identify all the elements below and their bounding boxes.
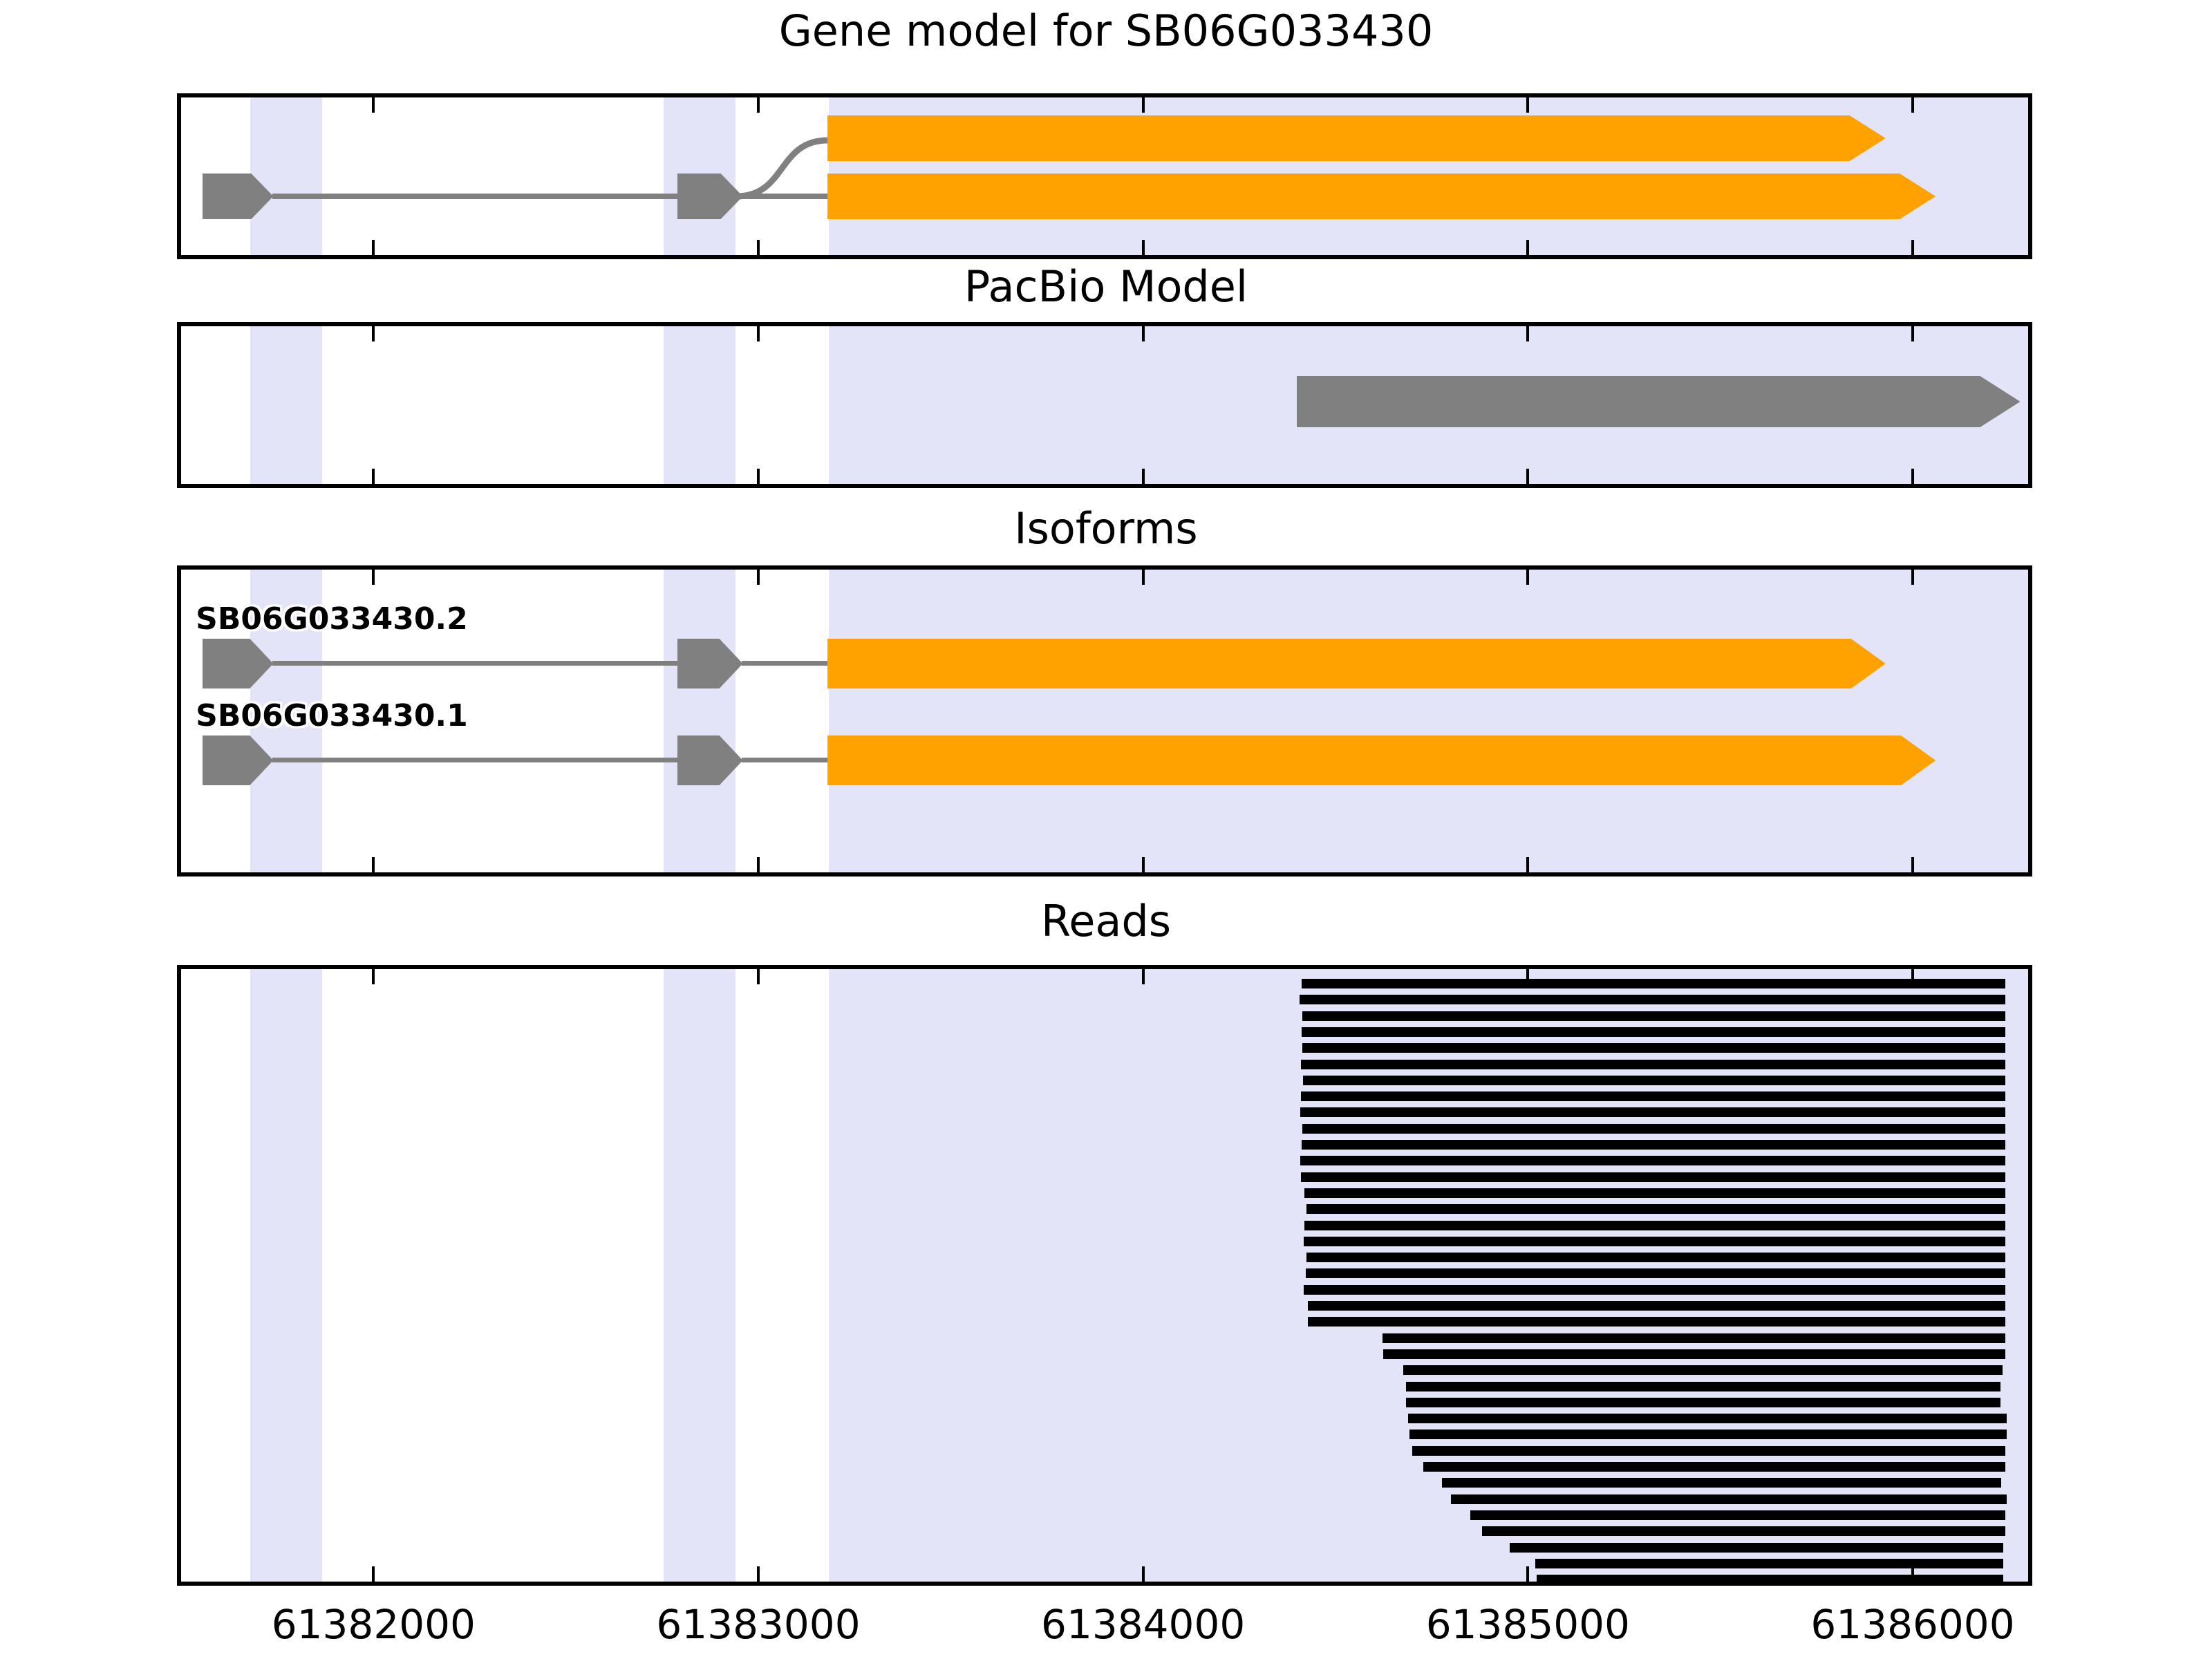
- read-bar: [1306, 1204, 2005, 1214]
- read-bar: [1301, 1091, 2005, 1101]
- panel-title-isoforms: Isoforms: [0, 503, 2212, 554]
- read-bar: [1302, 1124, 2005, 1134]
- axis-tick: [1911, 469, 1914, 484]
- read-bar: [1302, 979, 2005, 988]
- axis-tick: [1911, 857, 1914, 872]
- axis-tick: [1911, 570, 1914, 585]
- shaded-region: [664, 326, 735, 484]
- panel-title-pacbio-model: PacBio Model: [0, 261, 2212, 312]
- axis-tick: [1142, 326, 1145, 341]
- axis-tick: [1911, 97, 1914, 113]
- read-bar: [1302, 1140, 2005, 1150]
- read-bar: [1423, 1462, 2005, 1472]
- axis-tick: [1142, 969, 1145, 984]
- read-bar: [1304, 1285, 2005, 1295]
- axis-tick: [372, 857, 375, 872]
- x-axis-tick-label: 61384000: [984, 1601, 1302, 1648]
- cds-arrow: [827, 639, 1886, 688]
- shaded-region: [250, 326, 322, 484]
- read-bar: [1412, 1446, 2005, 1456]
- panel-gene-model: [177, 93, 2032, 259]
- axis-tick: [757, 969, 760, 984]
- intron-line: [272, 194, 679, 199]
- isoform-label: SB06G033430.1: [196, 698, 468, 733]
- read-bar: [1304, 1237, 2005, 1246]
- intron-line: [742, 661, 829, 666]
- axis-tick: [1526, 570, 1529, 585]
- read-bar: [1535, 1559, 2003, 1568]
- axis-tick: [1142, 469, 1145, 484]
- axis-tick: [1142, 240, 1145, 255]
- axis-tick: [1142, 1566, 1145, 1582]
- axis-tick: [1142, 857, 1145, 872]
- read-bar: [1482, 1526, 2005, 1536]
- intron-line: [742, 758, 829, 762]
- read-bar: [1382, 1333, 2005, 1343]
- read-bar: [1409, 1430, 2007, 1439]
- read-bar: [1510, 1543, 2004, 1553]
- axis-tick: [1526, 240, 1529, 255]
- utr-exon-block: [203, 174, 273, 219]
- read-bar: [1442, 1478, 2001, 1488]
- axis-tick: [372, 570, 375, 585]
- read-bar: [1406, 1382, 2000, 1391]
- x-axis-tick-label: 61386000: [1754, 1601, 2072, 1648]
- axis-tick: [372, 1566, 375, 1582]
- read-bar: [1306, 1268, 2005, 1278]
- axis-tick: [1526, 857, 1529, 872]
- utr-exon-block: [203, 735, 273, 785]
- read-bar: [1300, 1156, 2005, 1165]
- read-bar: [1308, 1301, 2005, 1311]
- x-axis-tick-label: 61385000: [1369, 1601, 1687, 1648]
- read-bar: [1470, 1510, 2005, 1520]
- cds-arrow: [827, 735, 1935, 785]
- panel-isoforms: SB06G033430.2SB06G033430.1: [177, 565, 2032, 877]
- utr-exon-block: [677, 174, 743, 219]
- panel-title-gene-model: Gene model for SB06G033430: [0, 6, 2212, 56]
- pacbio-model-arrow: [1297, 376, 2021, 427]
- read-bar: [1451, 1494, 2007, 1504]
- read-bar: [1306, 1253, 2005, 1262]
- axis-tick: [372, 326, 375, 341]
- intron-line: [272, 758, 679, 762]
- shaded-region: [829, 570, 2028, 872]
- read-bar: [1302, 1011, 2005, 1021]
- isoform-label: SB06G033430.2: [196, 601, 468, 637]
- axis-tick: [372, 97, 375, 113]
- read-bar: [1304, 1221, 2005, 1230]
- panel-pacbio-model: [177, 322, 2032, 488]
- axis-tick: [372, 469, 375, 484]
- axis-tick: [757, 857, 760, 872]
- figure-canvas: Gene model for SB06G033430 PacBio Model …: [0, 0, 2212, 1659]
- read-bar: [1403, 1365, 2003, 1375]
- read-bar: [1304, 1188, 2005, 1198]
- axis-tick: [1526, 326, 1529, 341]
- shaded-region: [664, 570, 735, 872]
- read-bar: [1308, 1317, 2005, 1327]
- axis-tick: [372, 969, 375, 984]
- panel-reads: [177, 965, 2032, 1586]
- read-bar: [1301, 1060, 2005, 1069]
- x-axis-tick-label: 61383000: [599, 1601, 917, 1648]
- axis-tick: [757, 97, 760, 113]
- read-bar: [1406, 1398, 2000, 1407]
- axis-tick: [757, 1566, 760, 1582]
- axis-tick: [1526, 1566, 1529, 1582]
- read-bar: [1300, 995, 2005, 1004]
- read-bar: [1408, 1414, 2007, 1423]
- axis-tick: [372, 240, 375, 255]
- axis-tick: [1911, 326, 1914, 341]
- cds-arrow-isoform-2: [827, 115, 1886, 161]
- read-bar: [1302, 1027, 2005, 1037]
- axis-tick: [1911, 240, 1914, 255]
- x-axis-tick-label: 61382000: [214, 1601, 532, 1648]
- axis-tick: [1142, 97, 1145, 113]
- axis-tick: [1526, 97, 1529, 113]
- axis-tick: [1526, 469, 1529, 484]
- utr-exon-block: [677, 735, 743, 785]
- read-bar: [1301, 1172, 2005, 1182]
- axis-tick: [757, 240, 760, 255]
- panel-title-reads: Reads: [0, 896, 2212, 946]
- utr-exon-block: [677, 639, 743, 688]
- read-bar: [1300, 1107, 2005, 1117]
- shaded-region: [664, 969, 735, 1582]
- utr-exon-block: [203, 639, 273, 688]
- intron-line: [272, 661, 679, 666]
- read-bar: [1383, 1349, 2005, 1359]
- cds-arrow-isoform-1: [827, 174, 1935, 219]
- read-bar: [1302, 1043, 2005, 1053]
- axis-tick: [757, 326, 760, 341]
- shaded-region: [250, 969, 322, 1582]
- axis-tick: [1142, 570, 1145, 585]
- axis-tick: [757, 469, 760, 484]
- read-bar: [1537, 1575, 2004, 1584]
- axis-tick: [757, 570, 760, 585]
- read-bar: [1303, 1076, 2005, 1085]
